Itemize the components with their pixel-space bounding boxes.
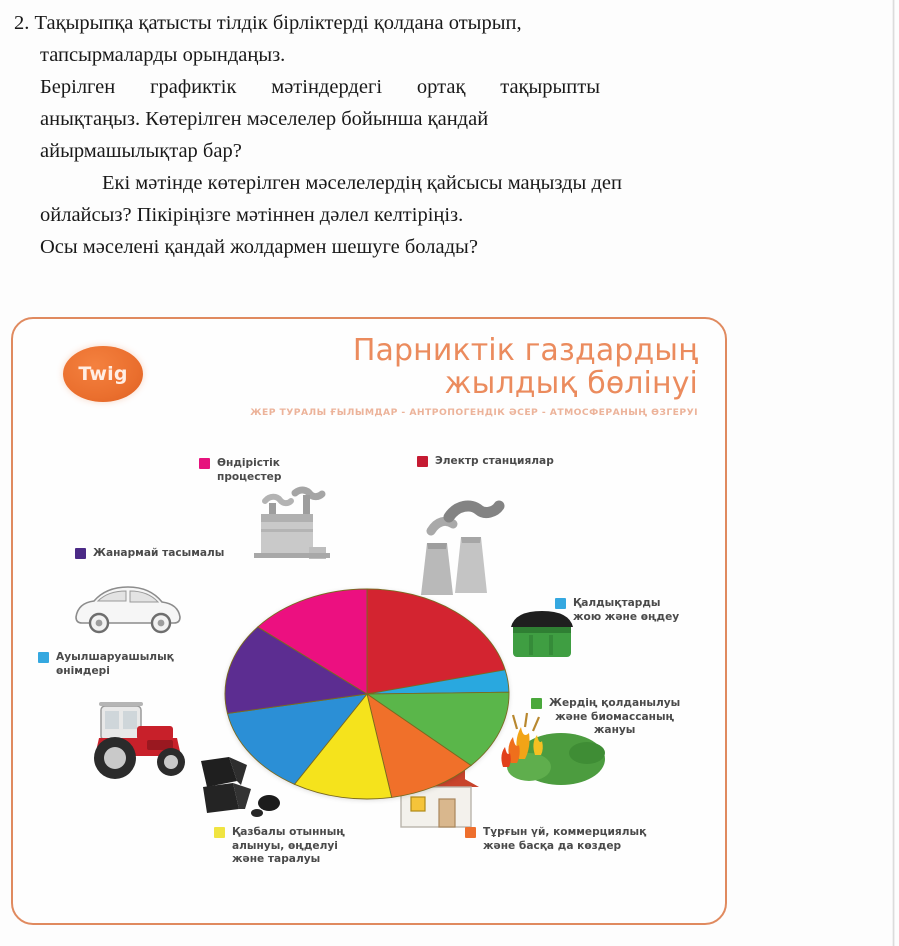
legend-label-line-1: Қазбалы отынның xyxy=(232,826,345,838)
question-line-2: тапсырмаларды орындаңыз. xyxy=(14,40,874,71)
legend-label-line-1: Өндірістік xyxy=(217,457,280,469)
legend-swatch-land-use-biomass xyxy=(531,698,542,709)
legend-label-line-2: өнімдері xyxy=(56,665,110,677)
question-line-1: 2. Тақырыпқа қатысты тілдік бірліктерді … xyxy=(14,8,874,39)
legend-label-line-1: Жердің қолданылуы xyxy=(549,697,680,709)
legend-label-industrial-processes: Өндірістік процестер xyxy=(217,457,281,484)
legend-label-line-1: Қалдықтарды xyxy=(573,597,660,609)
legend-label-fossil-fuel: Қазбалы отынның алынуы, өңделуі және тар… xyxy=(232,826,345,867)
chart-title-block: Парниктік газдардың жылдық бөлінуі ЖЕР Т… xyxy=(193,334,698,418)
legend-label-line-3: және таралуы xyxy=(232,853,320,865)
legend-item-industrial-processes[interactable]: Өндірістік процестер xyxy=(199,457,339,484)
legend-swatch-fossil-fuel xyxy=(214,827,225,838)
twig-logo: Twig xyxy=(63,346,143,402)
legend-item-residential-commercial[interactable]: Тұрғын үй, коммерциялық және басқа да кө… xyxy=(465,826,655,853)
legend-item-land-use-biomass[interactable]: Жердің қолданылуы және биомассаның жануы xyxy=(531,697,721,738)
legend-label-waste-disposal: Қалдықтарды жою және өңдеу xyxy=(573,597,679,624)
pie-slice-group xyxy=(225,589,509,799)
legend-label-line-2: және басқа да көздер xyxy=(483,840,621,852)
legend-label-line-1: Ауылшаруашылық xyxy=(56,651,174,663)
legend-item-power-stations[interactable]: Электр станциялар xyxy=(417,455,607,469)
chart-title-line-2: жылдық бөлінуі xyxy=(193,367,698,400)
legend-label-agriculture: Ауылшаруашылық өнімдері xyxy=(56,651,174,678)
legend-item-fuel-transport[interactable]: Жанармай тасымалы xyxy=(75,547,235,561)
legend-item-fossil-fuel[interactable]: Қазбалы отынның алынуы, өңделуі және тар… xyxy=(214,826,374,867)
infographic-card: Twig Парниктік газдардың жылдық бөлінуі … xyxy=(11,317,727,925)
legend-label-line-2: алынуы, өңделуі xyxy=(232,840,338,852)
tractor-icon xyxy=(59,692,207,782)
question-line-5: айырмашылықтар бар? xyxy=(14,136,874,167)
car-icon xyxy=(66,577,191,639)
legend-label-line-2: жою және өңдеу xyxy=(573,611,679,623)
question-line-6: Екі мәтінде көтерілген мәселелердің қайс… xyxy=(14,168,874,199)
legend-swatch-industrial-processes xyxy=(199,458,210,469)
legend-label-power-stations: Электр станциялар xyxy=(435,455,554,469)
legend-label-residential-commercial: Тұрғын үй, коммерциялық және басқа да кө… xyxy=(483,826,646,853)
pie-chart-svg xyxy=(222,587,512,802)
question-line-3: Берілген графиктік мәтіндердегі ортақ та… xyxy=(14,72,600,103)
legend-swatch-power-stations xyxy=(417,456,428,467)
legend-swatch-residential-commercial xyxy=(465,827,476,838)
legend-item-agriculture[interactable]: Ауылшаруашылық өнімдері xyxy=(38,651,188,678)
pie-chart xyxy=(222,587,512,802)
legend-label-line-2: және биомассаның xyxy=(555,711,674,723)
legend-swatch-fuel-transport xyxy=(75,548,86,559)
legend-label-line-2: процестер xyxy=(217,471,281,483)
page-edge-shadow xyxy=(892,0,895,946)
legend-label-fuel-transport: Жанармай тасымалы xyxy=(93,547,224,561)
legend-label-line-1: Тұрғын үй, коммерциялық xyxy=(483,826,646,838)
twig-logo-text: Twig xyxy=(78,363,127,385)
legend-swatch-agriculture xyxy=(38,652,49,663)
legend-item-waste-disposal[interactable]: Қалдықтарды жою және өңдеу xyxy=(555,597,720,624)
scanned-page: 2. Тақырыпқа қатысты тілдік бірліктерді … xyxy=(0,0,899,946)
question-text-block: 2. Тақырыпқа қатысты тілдік бірліктерді … xyxy=(14,8,874,264)
chart-subtitle: ЖЕР ТУРАЛЫ ҒЫЛЫМДАР - АНТРОПОГЕНДІК ӘСЕР… xyxy=(193,407,698,418)
legend-label-line-3: жануы xyxy=(594,724,636,736)
question-line-4: анықтаңыз. Көтерілген мәселелер бойынша … xyxy=(14,104,874,135)
legend-swatch-waste-disposal xyxy=(555,598,566,609)
chart-title-line-1: Парниктік газдардың xyxy=(193,334,698,367)
legend-label-land-use-biomass: Жердің қолданылуы және биомассаның жануы xyxy=(549,697,680,738)
question-line-8: Осы мәселені қандай жолдармен шешуге бол… xyxy=(14,232,874,263)
question-line-7: ойлайсыз? Пікіріңізге мәтіннен дәлел кел… xyxy=(14,200,874,231)
